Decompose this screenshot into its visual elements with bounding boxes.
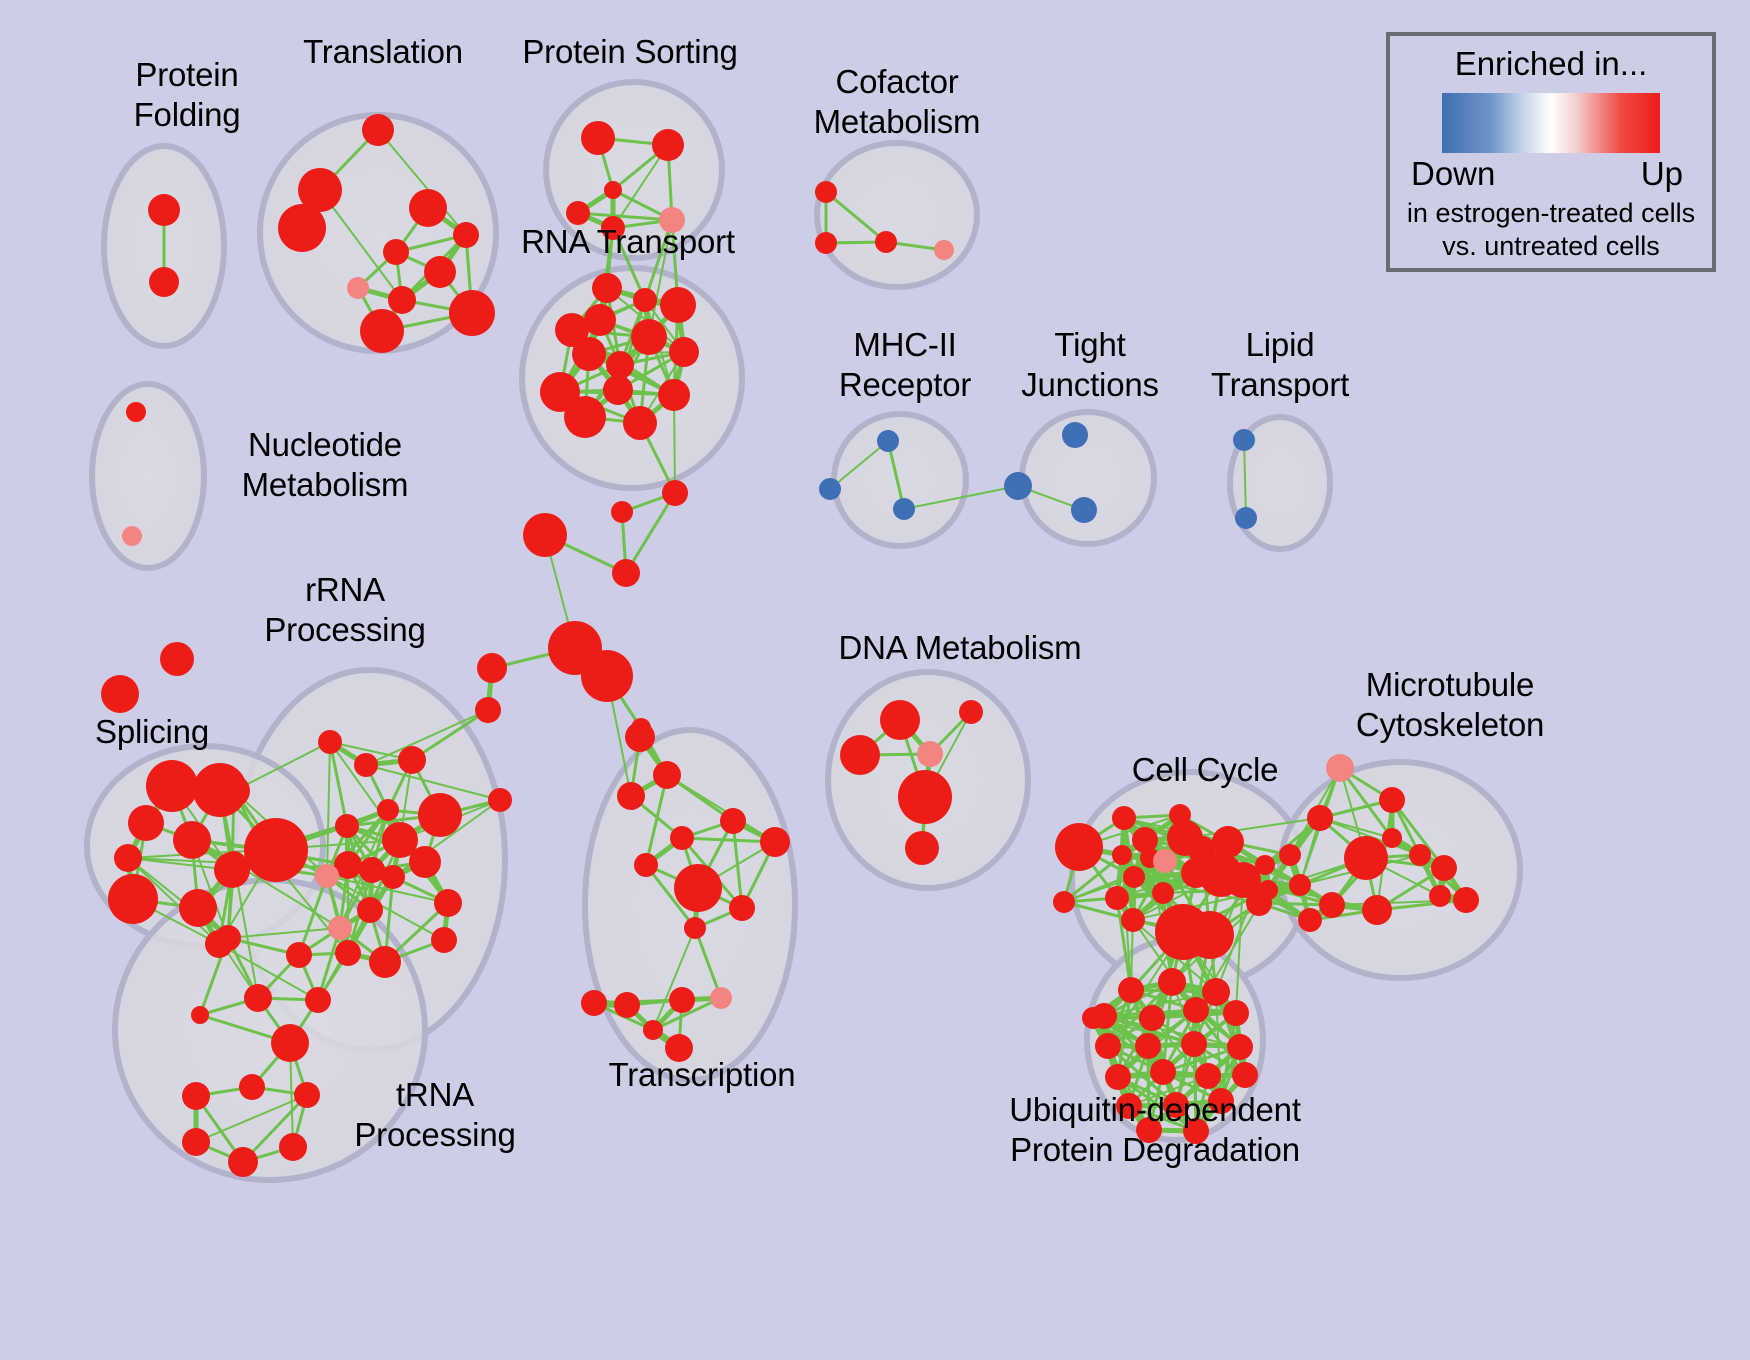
legend-end-labels: Down Up	[1415, 155, 1687, 195]
cluster-ellipse-mhc-ii-receptor	[834, 414, 966, 546]
network-node[interactable]	[1053, 891, 1075, 913]
network-node[interactable]	[1227, 1034, 1253, 1060]
cluster-label-transcription: Transcription	[572, 1055, 832, 1095]
network-node[interactable]	[819, 478, 841, 500]
network-node[interactable]	[328, 916, 352, 940]
network-node[interactable]	[431, 927, 457, 953]
network-node[interactable]	[959, 700, 983, 724]
network-node[interactable]	[359, 857, 385, 883]
network-node[interactable]	[1202, 978, 1230, 1006]
network-node[interactable]	[146, 760, 198, 812]
network-node[interactable]	[1135, 1033, 1161, 1059]
network-node[interactable]	[453, 222, 479, 248]
cluster-label-trna-processing: tRNA Processing	[310, 1075, 560, 1155]
network-node[interactable]	[179, 889, 217, 927]
network-node[interactable]	[1112, 806, 1136, 830]
network-node[interactable]	[149, 267, 179, 297]
cluster-label-ubiquitin-degradation: Ubiquitin-dependent Protein Degradation	[990, 1090, 1320, 1170]
network-node[interactable]	[581, 990, 607, 1016]
network-node[interactable]	[122, 526, 142, 546]
network-node[interactable]	[670, 826, 694, 850]
network-node[interactable]	[418, 793, 462, 837]
network-node[interactable]	[205, 930, 233, 958]
network-node[interactable]	[315, 864, 339, 888]
network-node[interactable]	[617, 782, 645, 810]
network-node[interactable]	[643, 1020, 663, 1040]
network-node[interactable]	[660, 287, 696, 323]
network-node[interactable]	[1453, 887, 1479, 913]
network-node[interactable]	[875, 231, 897, 253]
network-node[interactable]	[1112, 845, 1132, 865]
network-node[interactable]	[1409, 844, 1431, 866]
network-node[interactable]	[1212, 826, 1244, 858]
network-edge	[626, 493, 675, 573]
network-node[interactable]	[1181, 1031, 1207, 1057]
network-node[interactable]	[354, 753, 378, 777]
network-node[interactable]	[840, 735, 880, 775]
network-node[interactable]	[1326, 754, 1354, 782]
cluster-label-cofactor-metabolism: Cofactor Metabolism	[772, 62, 1022, 142]
network-node[interactable]	[335, 814, 359, 838]
cluster-label-rna-transport: RNA Transport	[488, 222, 768, 262]
network-node[interactable]	[409, 189, 447, 227]
network-node[interactable]	[477, 653, 507, 683]
network-node[interactable]	[305, 987, 331, 1013]
network-node[interactable]	[1235, 507, 1257, 529]
network-node[interactable]	[652, 129, 684, 161]
network-node[interactable]	[1071, 497, 1097, 523]
network-node[interactable]	[1153, 849, 1177, 873]
network-node[interactable]	[1055, 823, 1103, 871]
cluster-label-microtubule-cytoskeleton: Microtubule Cytoskeleton	[1300, 665, 1600, 745]
network-node[interactable]	[279, 1133, 307, 1161]
network-node[interactable]	[228, 1147, 258, 1177]
network-node[interactable]	[335, 940, 361, 966]
network-node[interactable]	[278, 204, 326, 252]
network-node[interactable]	[760, 827, 790, 857]
network-node[interactable]	[191, 1006, 209, 1024]
network-node[interactable]	[1095, 1033, 1121, 1059]
network-node[interactable]	[1319, 892, 1345, 918]
cluster-ellipse-nucleotide-metabolism	[92, 384, 204, 568]
network-node[interactable]	[584, 304, 616, 336]
network-node[interactable]	[182, 1082, 210, 1110]
network-node[interactable]	[362, 114, 394, 146]
network-node[interactable]	[634, 853, 658, 877]
network-node[interactable]	[1082, 1007, 1104, 1029]
network-node[interactable]	[669, 987, 695, 1013]
network-node[interactable]	[1158, 968, 1186, 996]
network-node[interactable]	[606, 351, 634, 379]
network-node[interactable]	[934, 240, 954, 260]
network-node[interactable]	[222, 851, 246, 875]
network-node[interactable]	[286, 942, 312, 968]
network-node[interactable]	[1344, 836, 1388, 880]
network-node[interactable]	[377, 799, 399, 821]
network-node[interactable]	[360, 309, 404, 353]
network-node[interactable]	[905, 831, 939, 865]
network-node[interactable]	[193, 763, 247, 817]
network-node[interactable]	[710, 987, 732, 1009]
network-node[interactable]	[1152, 882, 1174, 904]
color-scale-bar	[1442, 93, 1660, 153]
network-node[interactable]	[662, 480, 688, 506]
network-node[interactable]	[604, 181, 622, 199]
network-node[interactable]	[1279, 844, 1301, 866]
network-node[interactable]	[1382, 828, 1402, 848]
network-node[interactable]	[239, 1074, 265, 1100]
network-node[interactable]	[877, 430, 899, 452]
network-node[interactable]	[1307, 805, 1333, 831]
network-node[interactable]	[381, 865, 405, 889]
network-node[interactable]	[347, 277, 369, 299]
network-node[interactable]	[720, 808, 746, 834]
network-node[interactable]	[1186, 911, 1234, 959]
network-node[interactable]	[603, 375, 633, 405]
network-node[interactable]	[1232, 1062, 1258, 1088]
cluster-label-lipid-transport: Lipid Transport	[1165, 325, 1395, 405]
network-node[interactable]	[128, 805, 164, 841]
network-node[interactable]	[409, 846, 441, 878]
legend-title: Enriched in...	[1390, 45, 1712, 83]
cluster-label-dna-metabolism: DNA Metabolism	[810, 628, 1110, 668]
cluster-label-protein-sorting: Protein Sorting	[490, 32, 770, 72]
network-node[interactable]	[1195, 1063, 1221, 1089]
network-node[interactable]	[1298, 908, 1322, 932]
network-node[interactable]	[1429, 885, 1451, 907]
network-node[interactable]	[1258, 880, 1278, 900]
network-node[interactable]	[108, 874, 158, 924]
network-node[interactable]	[684, 917, 706, 939]
network-node[interactable]	[631, 319, 667, 355]
network-node[interactable]	[1223, 1000, 1249, 1026]
network-node[interactable]	[388, 286, 416, 314]
network-node[interactable]	[160, 642, 194, 676]
network-node[interactable]	[1289, 874, 1311, 896]
network-node[interactable]	[271, 1024, 309, 1062]
network-node[interactable]	[1255, 855, 1275, 875]
network-node[interactable]	[318, 730, 342, 754]
network-node[interactable]	[398, 746, 426, 774]
network-node[interactable]	[581, 650, 633, 702]
cluster-label-nucleotide-metabolism: Nucleotide Metabolism	[200, 425, 450, 505]
network-node[interactable]	[1004, 472, 1032, 500]
network-node[interactable]	[1362, 895, 1392, 925]
network-node[interactable]	[182, 1128, 210, 1156]
network-node[interactable]	[1150, 1059, 1176, 1085]
network-node[interactable]	[488, 788, 512, 812]
legend-sublabel-line1: in estrogen-treated cells	[1390, 197, 1712, 230]
network-node[interactable]	[1379, 787, 1405, 813]
network-node[interactable]	[523, 513, 567, 557]
network-node[interactable]	[369, 946, 401, 978]
network-node[interactable]	[244, 984, 272, 1012]
network-node[interactable]	[1118, 977, 1144, 1003]
network-node[interactable]	[917, 741, 943, 767]
network-node[interactable]	[815, 232, 837, 254]
network-node[interactable]	[669, 337, 699, 367]
network-node[interactable]	[898, 770, 952, 824]
cluster-label-splicing: Splicing	[62, 712, 242, 752]
network-node[interactable]	[424, 256, 456, 288]
network-node[interactable]	[729, 895, 755, 921]
network-node[interactable]	[1121, 908, 1145, 932]
legend-box: Enriched in... Down Up in estrogen-treat…	[1386, 32, 1716, 272]
network-node[interactable]	[880, 700, 920, 740]
network-node[interactable]	[633, 288, 657, 312]
figure-canvas: Protein Folding Translation Protein Sort…	[0, 0, 1750, 1360]
network-node[interactable]	[383, 239, 409, 265]
cluster-ellipse-cofactor-metabolism	[817, 143, 977, 287]
network-node[interactable]	[1233, 429, 1255, 451]
legend-sublabel-line2: vs. untreated cells	[1390, 230, 1712, 263]
network-node[interactable]	[815, 181, 837, 203]
network-node[interactable]	[612, 559, 640, 587]
network-node[interactable]	[1105, 886, 1129, 910]
network-node[interactable]	[244, 818, 308, 882]
network-node[interactable]	[893, 498, 915, 520]
cluster-label-translation: Translation	[258, 32, 508, 72]
network-node[interactable]	[631, 718, 651, 738]
network-node[interactable]	[475, 697, 501, 723]
network-node[interactable]	[592, 273, 622, 303]
network-node[interactable]	[126, 402, 146, 422]
network-node[interactable]	[1105, 1064, 1131, 1090]
network-node[interactable]	[357, 897, 383, 923]
network-node[interactable]	[173, 821, 211, 859]
network-node[interactable]	[623, 406, 657, 440]
cluster-label-rrna-processing: rRNA Processing	[220, 570, 470, 650]
network-node[interactable]	[101, 675, 139, 713]
network-node[interactable]	[1183, 997, 1209, 1023]
network-node[interactable]	[581, 121, 615, 155]
network-node[interactable]	[148, 194, 180, 226]
cluster-label-cell-cycle: Cell Cycle	[1095, 750, 1315, 790]
network-node[interactable]	[564, 396, 606, 438]
cluster-ellipse-tight-junctions	[1022, 412, 1154, 544]
network-node[interactable]	[449, 290, 495, 336]
network-node[interactable]	[653, 761, 681, 789]
network-node[interactable]	[674, 864, 722, 912]
network-node[interactable]	[434, 889, 462, 917]
network-node[interactable]	[658, 379, 690, 411]
network-node[interactable]	[1123, 866, 1145, 888]
network-node[interactable]	[614, 992, 640, 1018]
network-node[interactable]	[1139, 1005, 1165, 1031]
network-node[interactable]	[114, 844, 142, 872]
network-node[interactable]	[572, 337, 606, 371]
legend-high-label: Up	[1641, 155, 1683, 193]
legend-low-label: Down	[1411, 155, 1495, 193]
network-node[interactable]	[1431, 855, 1457, 881]
network-node[interactable]	[1062, 422, 1088, 448]
network-node[interactable]	[611, 501, 633, 523]
